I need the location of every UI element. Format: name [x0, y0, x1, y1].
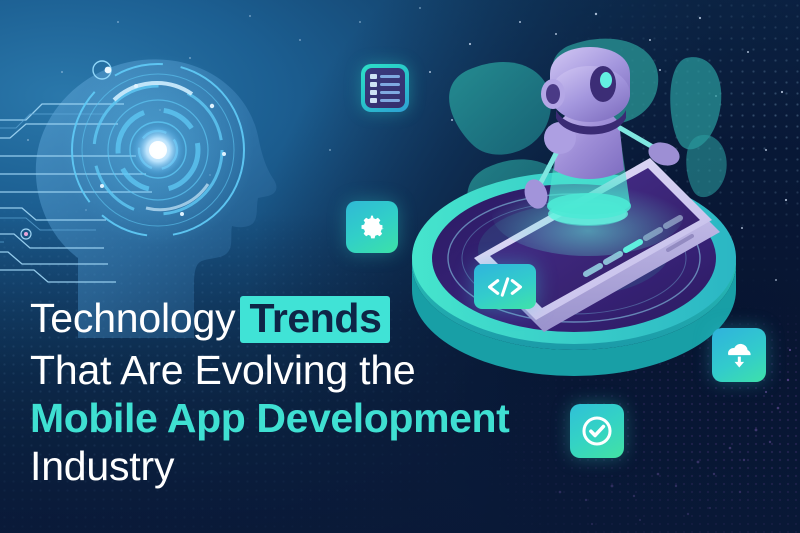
ai-head-circuit: [0, 8, 316, 338]
checklist-icon[interactable]: [361, 64, 409, 112]
headline-line-4: Industry: [30, 446, 590, 487]
cloud-download-icon[interactable]: [712, 328, 766, 382]
headline-highlight-trends: Trends: [240, 296, 390, 343]
headline-line-1: TechnologyTrends: [30, 296, 590, 343]
headline-line-1-text: Technology: [30, 295, 235, 341]
banner: TechnologyTrends That Are Evolving the M…: [0, 0, 800, 533]
headline-line-3: Mobile App Development: [30, 398, 590, 439]
gear-icon[interactable]: [346, 201, 398, 253]
headline-line-2: That Are Evolving the: [30, 350, 590, 391]
page-title: TechnologyTrends That Are Evolving the M…: [30, 296, 590, 494]
